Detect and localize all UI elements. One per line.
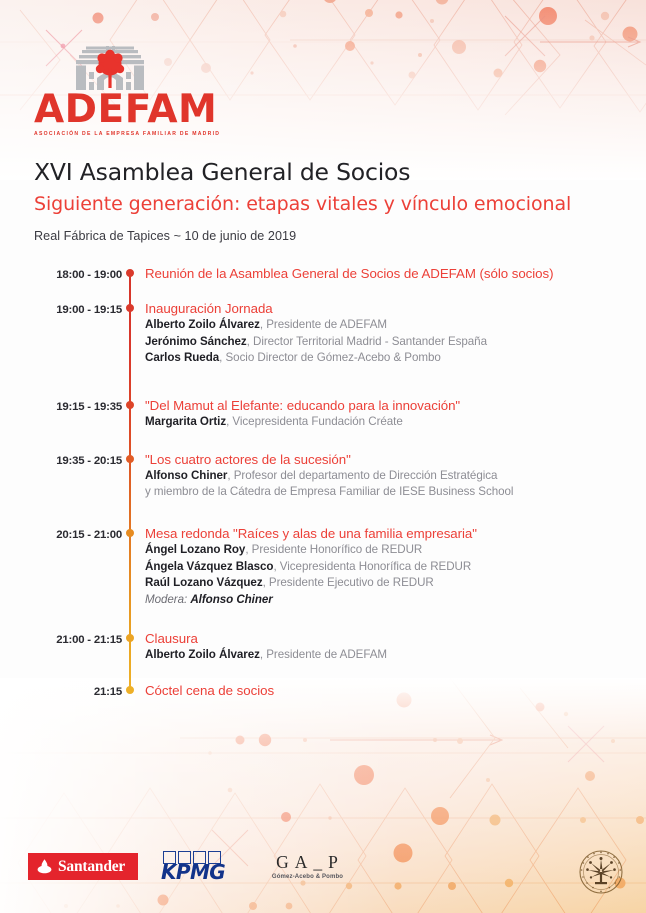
agenda-speaker: Alberto Zoilo Álvarez, Presidente de ADE…	[145, 317, 612, 334]
arch-with-tree-icon	[62, 46, 158, 90]
speaker-role: , Presidente Honorífico de REDUR	[245, 543, 422, 556]
speaker-name: Alfonso Chiner	[145, 469, 227, 482]
timeline-dot-icon	[126, 304, 134, 312]
poster-root: ADEFAM ASOCIACIÓN DE LA EMPRESA FAMILIAR…	[0, 0, 646, 913]
agenda-item-time: 19:15 - 19:35	[34, 401, 122, 413]
agenda-item-body: Mesa redonda "Raíces y alas de una famil…	[137, 525, 612, 609]
speaker-name: Ángel Lozano Roy	[145, 543, 245, 556]
moderator-label: Modera:	[145, 593, 190, 606]
speaker-role: , Director Territorial Madrid - Santande…	[247, 335, 487, 348]
speaker-name: Jerónimo Sánchez	[145, 335, 247, 348]
timeline-dot-icon	[126, 686, 134, 694]
sponsor-seal[interactable]	[578, 849, 624, 895]
speaker-role: , Presidente Ejecutivo de REDUR	[263, 576, 434, 589]
timeline-dot-cell	[122, 269, 137, 277]
agenda-speaker: Jerónimo Sánchez, Director Territorial M…	[145, 334, 612, 351]
timeline-dot-icon	[126, 269, 134, 277]
speaker-name: Ángela Vázquez Blasco	[145, 560, 273, 573]
speaker-role: , Presidente de ADEFAM	[260, 648, 387, 661]
timeline-dot-icon	[126, 634, 134, 642]
agenda-item-heading: Inauguración Jornada	[145, 300, 612, 317]
santander-label: Santander	[58, 858, 125, 876]
agenda-item-body: ClausuraAlberto Zoilo Álvarez, President…	[137, 630, 612, 664]
agenda-item: 19:00 - 19:15Inauguración JornadaAlberto…	[34, 304, 612, 367]
page-subtitle: Siguiente generación: etapas vitales y v…	[34, 193, 612, 216]
speaker-role: , Socio Director de Gómez-Acebo & Pombo	[219, 351, 441, 364]
moderator-name: Alfonso Chiner	[190, 593, 272, 606]
sponsor-kpmg[interactable]: KPMG	[161, 851, 243, 882]
agenda-item-body: "Los cuatro actores de la sucesión"Alfon…	[137, 451, 612, 501]
speaker-name: Margarita Ortiz	[145, 415, 226, 428]
speaker-name: Alberto Zoilo Álvarez	[145, 318, 260, 331]
agenda-item-body: Cóctel cena de socios	[137, 682, 612, 699]
gap-wordmark: GA_P	[255, 853, 360, 871]
adefam-wordmark: ADEFAM	[34, 91, 194, 128]
gap-subtitle: Gómez-Acebo & Pombo	[255, 874, 360, 880]
venue-and-date: Real Fábrica de Tapices ~ 10 de junio de…	[34, 229, 612, 243]
timeline-dot-cell	[122, 529, 137, 537]
agenda-speaker: Raúl Lozano Vázquez, Presidente Ejecutiv…	[145, 575, 612, 592]
timeline-dot-icon	[126, 401, 134, 409]
agenda-speaker: Margarita Ortiz, Vicepresidenta Fundació…	[145, 414, 612, 431]
agenda-item-time: 20:15 - 21:00	[34, 529, 122, 541]
agenda-item-time: 21:15	[34, 686, 122, 698]
speaker-name: Raúl Lozano Vázquez	[145, 576, 263, 589]
agenda-item-time: 19:00 - 19:15	[34, 304, 122, 316]
sponsor-gap[interactable]: GA_P Gómez-Acebo & Pombo	[255, 853, 360, 880]
agenda-item: 21:15Cóctel cena de socios	[34, 686, 612, 699]
speaker-role: , Profesor del departamento de Dirección…	[227, 469, 497, 482]
circular-tree-seal-icon	[578, 849, 624, 895]
timeline-dot-cell	[122, 686, 137, 694]
poster-content: ADEFAM ASOCIACIÓN DE LA EMPRESA FAMILIAR…	[0, 46, 646, 699]
adefam-logo: ADEFAM ASOCIACIÓN DE LA EMPRESA FAMILIAR…	[34, 46, 194, 137]
speaker-role: , Presidente de ADEFAM	[260, 318, 387, 331]
timeline-dot-icon	[126, 455, 134, 463]
agenda-speaker: Alberto Zoilo Álvarez, Presidente de ADE…	[145, 647, 612, 664]
sponsor-bar: Santander KPMG GA_P Gómez-Acebo & Pombo	[0, 843, 646, 913]
agenda-item-heading: Reunión de la Asamblea General de Socios…	[145, 265, 612, 282]
agenda-item-time: 19:35 - 20:15	[34, 455, 122, 467]
speaker-role: , Vicepresidenta Fundación Créate	[226, 415, 403, 428]
timeline-dot-cell	[122, 401, 137, 409]
agenda-item-time: 18:00 - 19:00	[34, 269, 122, 281]
agenda-item-body: Inauguración JornadaAlberto Zoilo Álvare…	[137, 300, 612, 367]
page-title: XVI Asamblea General de Socios	[34, 159, 612, 186]
agenda-item-heading: Clausura	[145, 630, 612, 647]
adefam-tagline: ASOCIACIÓN DE LA EMPRESA FAMILIAR DE MAD…	[34, 131, 194, 137]
agenda-speaker: Ángel Lozano Roy, Presidente Honorífico …	[145, 542, 612, 559]
agenda-item-heading: Mesa redonda "Raíces y alas de una famil…	[145, 525, 612, 542]
agenda-item: 20:15 - 21:00Mesa redonda "Raíces y alas…	[34, 529, 612, 609]
agenda-speaker-role-continuation: y miembro de la Cátedra de Empresa Famil…	[145, 484, 612, 501]
agenda-item-heading: Cóctel cena de socios	[145, 682, 612, 699]
agenda-item: 21:00 - 21:15ClausuraAlberto Zoilo Álvar…	[34, 634, 612, 664]
agenda-item-heading: "Los cuatro actores de la sucesión"	[145, 451, 612, 468]
agenda-item: 19:35 - 20:15"Los cuatro actores de la s…	[34, 455, 612, 501]
speaker-role: , Vicepresidenta Honorífica de REDUR	[273, 560, 471, 573]
agenda-moderator: Modera: Alfonso Chiner	[145, 592, 612, 609]
agenda-item: 19:15 - 19:35"Del Mamut al Elefante: edu…	[34, 401, 612, 431]
timeline-dot-cell	[122, 304, 137, 312]
speaker-name: Alberto Zoilo Álvarez	[145, 648, 260, 661]
agenda-item-heading: "Del Mamut al Elefante: educando para la…	[145, 397, 612, 414]
agenda-timeline: 18:00 - 19:00Reunión de la Asamblea Gene…	[34, 269, 612, 699]
speaker-name: Carlos Rueda	[145, 351, 219, 364]
agenda-speaker: Alfonso Chiner, Profesor del departament…	[145, 468, 612, 485]
agenda-speaker: Ángela Vázquez Blasco, Vicepresidenta Ho…	[145, 559, 612, 576]
timeline-dot-cell	[122, 455, 137, 463]
agenda-item-time: 21:00 - 21:15	[34, 634, 122, 646]
agenda-speaker: Carlos Rueda, Socio Director de Gómez-Ac…	[145, 350, 612, 367]
timeline-dot-icon	[126, 529, 134, 537]
agenda-item: 18:00 - 19:00Reunión de la Asamblea Gene…	[34, 269, 612, 282]
sponsor-santander[interactable]: Santander	[28, 853, 138, 880]
agenda-item-body: "Del Mamut al Elefante: educando para la…	[137, 397, 612, 431]
agenda-item-body: Reunión de la Asamblea General de Socios…	[137, 265, 612, 282]
timeline-dot-cell	[122, 634, 137, 642]
kpmg-label: KPMG	[161, 862, 243, 882]
santander-flame-icon	[36, 858, 53, 875]
